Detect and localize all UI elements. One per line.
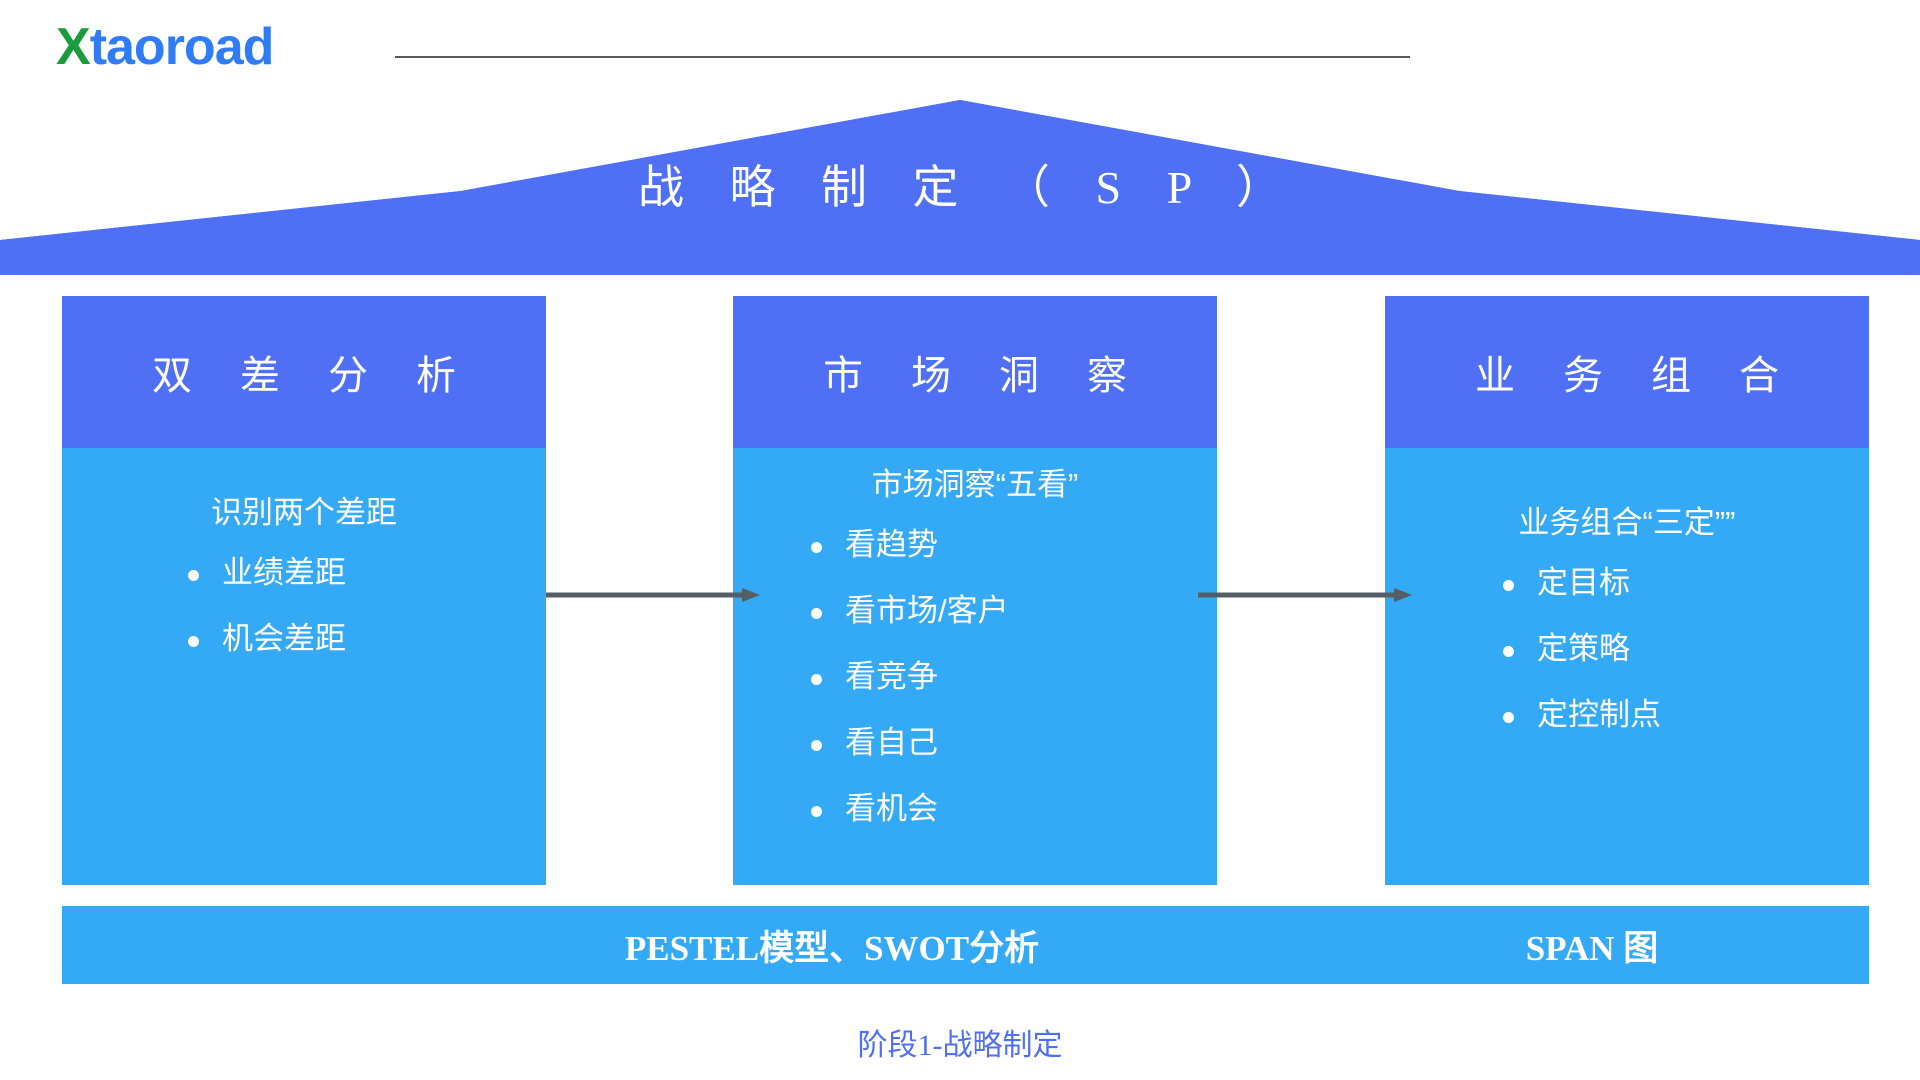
column-header-3: 业 务 组 合 xyxy=(1385,296,1869,448)
list-item: 看市场/客户 xyxy=(803,578,1009,644)
list-item: 看竞争 xyxy=(803,644,1009,710)
column-intro-3: 业务组合“三定”” xyxy=(1395,496,1859,550)
header-divider-line xyxy=(395,56,1410,58)
slide-caption: 阶段1-战略制定 xyxy=(0,1020,1920,1064)
footer-label-right: SPAN 图 xyxy=(1432,906,1752,984)
logo-row: Xtaoroad xyxy=(0,0,1920,92)
list-item: 定目标 xyxy=(1495,550,1661,616)
roof-banner: 战 略 制 定 （ S P ） xyxy=(0,100,1920,275)
column-header-2: 市 场 洞 察 xyxy=(733,296,1217,448)
column-bullet-list-1: 业绩差距 机会差距 xyxy=(180,540,346,672)
column-bullet-list-3: 定目标 定策略 定控制点 xyxy=(1495,550,1661,748)
column-intro-1: 识别两个差距 xyxy=(72,486,536,540)
list-item: 看机会 xyxy=(803,776,1009,842)
arrow-right-icon xyxy=(546,588,760,602)
column-body-2: 市场洞察“五看” 看趋势 看市场/客户 看竞争 看自己 看机会 xyxy=(733,448,1217,885)
arrow-right-icon xyxy=(1198,588,1412,602)
stage-column-gap-analysis: 双 差 分 析 识别两个差距 业绩差距 机会差距 xyxy=(62,296,546,885)
stage-column-market-insight: 市 场 洞 察 市场洞察“五看” 看趋势 看市场/客户 看竞争 看自己 看机会 xyxy=(733,296,1217,885)
list-item: 定策略 xyxy=(1495,616,1661,682)
flow-arrow-icon xyxy=(1198,588,1412,602)
column-header-1: 双 差 分 析 xyxy=(62,296,546,448)
slide-canvas: Xtaoroad 战 略 制 定 （ S P ） 双 差 分 析 识别两个差距 … xyxy=(0,0,1920,1080)
list-item: 看自己 xyxy=(803,710,1009,776)
flow-arrow-icon xyxy=(546,588,760,602)
column-body-3: 业务组合“三定”” 定目标 定策略 定控制点 xyxy=(1385,448,1869,885)
logo-letter-x: X xyxy=(56,18,90,76)
column-bullet-list-2: 看趋势 看市场/客户 看竞争 看自己 看机会 xyxy=(803,512,1009,842)
list-item: 机会差距 xyxy=(180,606,346,672)
tools-footer-bar: PESTEL模型、SWOT分析 SPAN 图 xyxy=(62,906,1869,984)
column-body-1: 识别两个差距 业绩差距 机会差距 xyxy=(62,448,546,885)
footer-label-left: PESTEL模型、SWOT分析 xyxy=(542,906,1122,984)
list-item: 定控制点 xyxy=(1495,682,1661,748)
list-item: 业绩差距 xyxy=(180,540,346,606)
column-intro-2: 市场洞察“五看” xyxy=(743,458,1207,512)
brand-logo: Xtaoroad xyxy=(56,16,273,78)
logo-wordmark: taoroad xyxy=(90,18,274,76)
stage-column-business-portfolio: 业 务 组 合 业务组合“三定”” 定目标 定策略 定控制点 xyxy=(1385,296,1869,885)
list-item: 看趋势 xyxy=(803,512,1009,578)
roof-title: 战 略 制 定 （ S P ） xyxy=(0,160,1920,216)
